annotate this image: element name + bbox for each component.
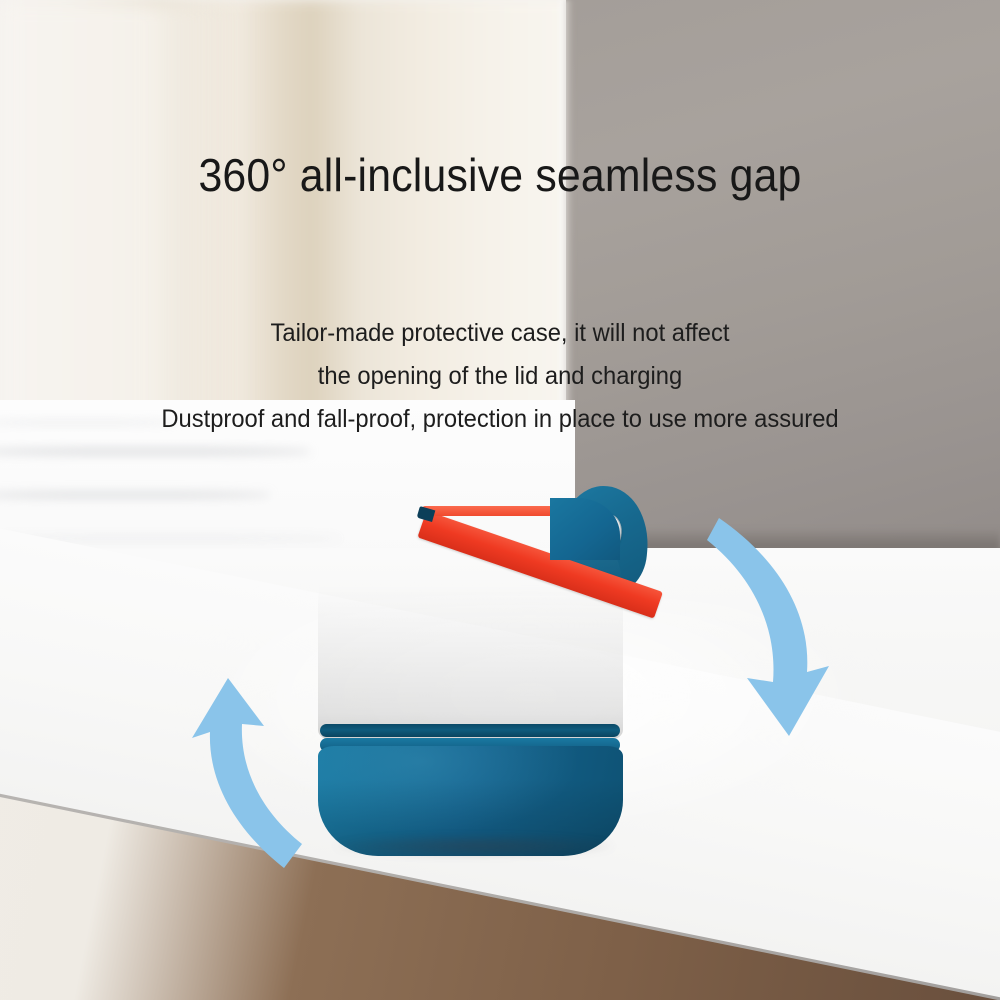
body-copy: Tailor-made protective case, it will not… [0,312,1000,441]
case-seam-groove [320,724,620,737]
body-copy-line-3: Dustproof and fall-proof, protection in … [25,398,975,441]
grey-wall-backdrop [566,0,1000,560]
product-contact-shadow [336,836,612,856]
surface-streak [0,448,310,455]
body-copy-line-2: the opening of the lid and charging [25,355,975,398]
curved-arrow-down-left-icon [685,500,865,750]
body-copy-line-1: Tailor-made protective case, it will not… [25,312,975,355]
surface-streak [0,492,270,498]
product-image [318,484,698,854]
headline: 360° all-inclusive seamless gap [35,148,965,202]
product-marketing-image: 360° all-inclusive seamless gap Tailor-m… [0,0,1000,1000]
